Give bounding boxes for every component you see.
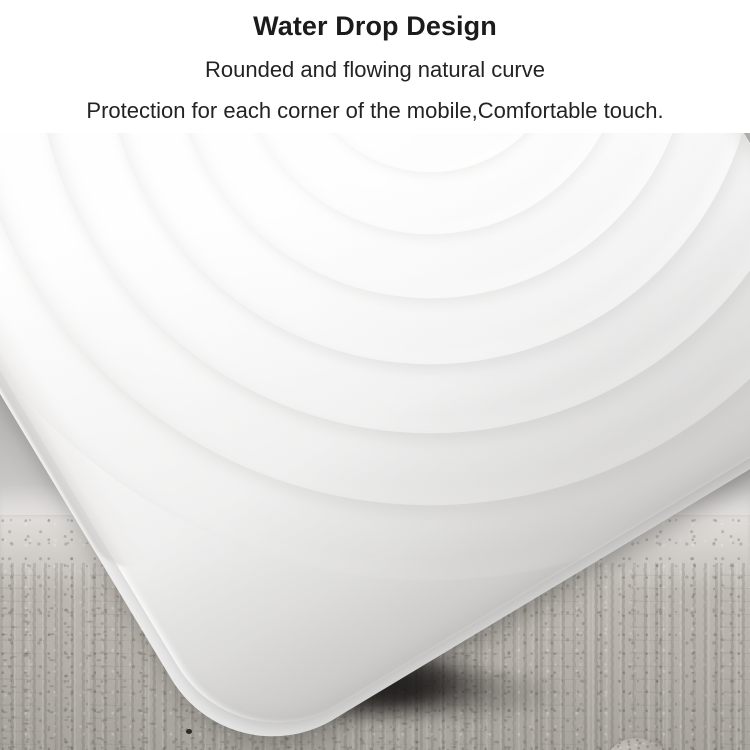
- product-photo: [0, 133, 750, 750]
- page-title: Water Drop Design: [0, 11, 750, 42]
- subtitle-primary: Rounded and flowing natural curve: [0, 57, 750, 83]
- product-marketing-image: Water Drop Design Rounded and flowing na…: [0, 0, 750, 750]
- subtitle-secondary: Protection for each corner of the mobile…: [0, 98, 750, 124]
- header-text-panel: Water Drop Design Rounded and flowing na…: [0, 0, 750, 133]
- ground-pebble: [186, 729, 192, 734]
